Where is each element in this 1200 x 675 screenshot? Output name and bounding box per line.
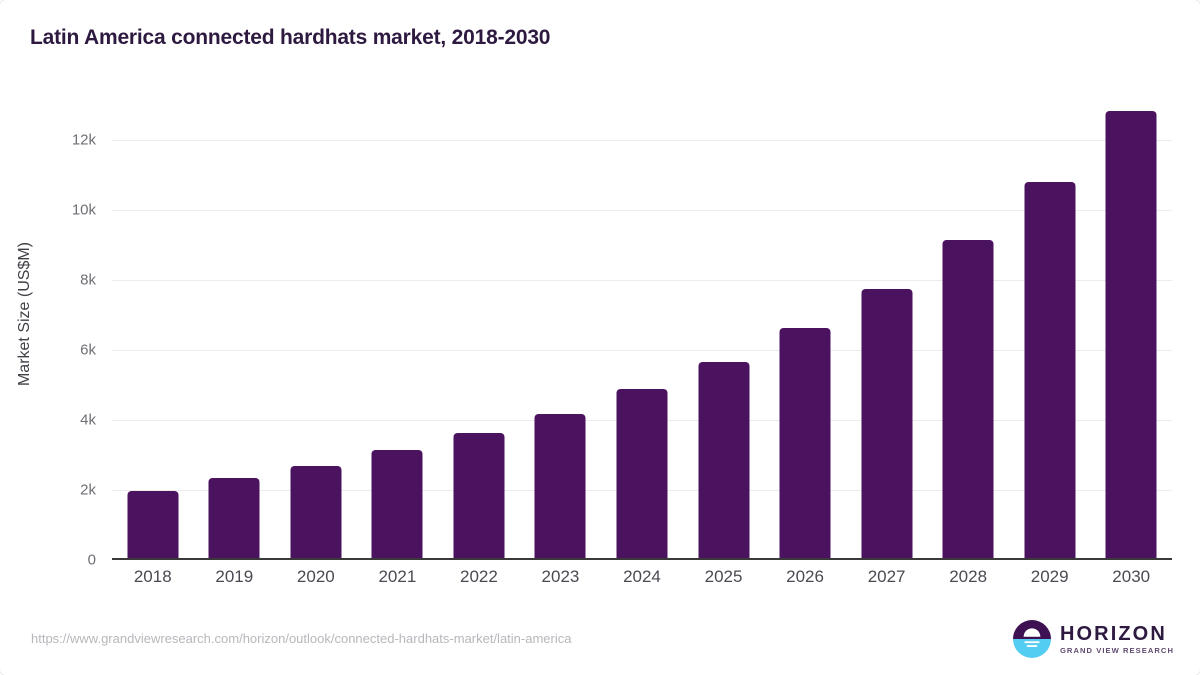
bar-group[interactable]: 2030	[1090, 105, 1172, 560]
horizon-logo-mark	[1013, 620, 1051, 658]
bar[interactable]	[209, 478, 260, 560]
bar-group[interactable]: 2027	[846, 105, 928, 560]
bar[interactable]	[943, 240, 994, 560]
x-tick-label: 2028	[949, 567, 987, 587]
y-tick-label: 2k	[80, 482, 96, 499]
bar-group[interactable]: 2023	[520, 105, 602, 560]
page-title: Latin America connected hardhats market,…	[30, 26, 550, 50]
bar[interactable]	[1024, 182, 1075, 560]
y-tick-label: 12k	[72, 132, 96, 149]
bar-group[interactable]: 2029	[1009, 105, 1091, 560]
bar-group[interactable]: 2019	[194, 105, 276, 560]
bar[interactable]	[616, 389, 667, 560]
x-tick-label: 2019	[215, 567, 253, 587]
bar-group[interactable]: 2026	[764, 105, 846, 560]
bar-group[interactable]: 2028	[927, 105, 1009, 560]
y-tick-label: 6k	[80, 342, 96, 359]
logo-name: HORIZON	[1060, 624, 1174, 644]
bar[interactable]	[1106, 111, 1157, 560]
bar[interactable]	[127, 491, 178, 560]
bar[interactable]	[861, 289, 912, 560]
y-axis-title: Market Size (US$M)	[16, 104, 34, 524]
source-url[interactable]: https://www.grandviewresearch.com/horizo…	[31, 631, 571, 646]
bar[interactable]	[535, 414, 586, 560]
chart-page: Latin America connected hardhats market,…	[0, 0, 1200, 675]
bar[interactable]	[290, 466, 341, 560]
x-tick-label: 2022	[460, 567, 498, 587]
x-tick-label: 2023	[542, 567, 580, 587]
x-tick-label: 2020	[297, 567, 335, 587]
y-tick-label: 8k	[80, 272, 96, 289]
x-tick-label: 2027	[868, 567, 906, 587]
x-tick-label: 2030	[1112, 567, 1150, 587]
horizon-logo-text: HORIZON GRAND VIEW RESEARCH	[1060, 624, 1174, 655]
x-axis-line	[112, 558, 1172, 560]
bar[interactable]	[780, 328, 831, 560]
x-tick-label: 2021	[378, 567, 416, 587]
bar-group[interactable]: 2021	[357, 105, 439, 560]
x-tick-label: 2026	[786, 567, 824, 587]
bar-series: 2018201920202021202220232024202520262027…	[112, 105, 1172, 560]
bar[interactable]	[372, 450, 423, 560]
logo-tagline: GRAND VIEW RESEARCH	[1060, 647, 1174, 655]
x-tick-label: 2024	[623, 567, 661, 587]
bar[interactable]	[698, 362, 749, 560]
y-tick-label: 4k	[80, 412, 96, 429]
x-tick-label: 2029	[1031, 567, 1069, 587]
y-tick-label: 0	[88, 552, 96, 569]
x-tick-label: 2025	[705, 567, 743, 587]
bar-group[interactable]: 2020	[275, 105, 357, 560]
plot-area: 2018201920202021202220232024202520262027…	[112, 105, 1172, 560]
horizon-logo[interactable]: HORIZON GRAND VIEW RESEARCH	[1013, 618, 1174, 660]
x-tick-label: 2018	[134, 567, 172, 587]
y-tick-label: 10k	[72, 202, 96, 219]
bar-group[interactable]: 2022	[438, 105, 520, 560]
bar-group[interactable]: 2024	[601, 105, 683, 560]
bar-group[interactable]: 2025	[683, 105, 765, 560]
bar[interactable]	[453, 433, 504, 560]
bar-group[interactable]: 2018	[112, 105, 194, 560]
y-axis: Market Size (US$M) 02k4k6k8k10k12k	[0, 105, 112, 560]
